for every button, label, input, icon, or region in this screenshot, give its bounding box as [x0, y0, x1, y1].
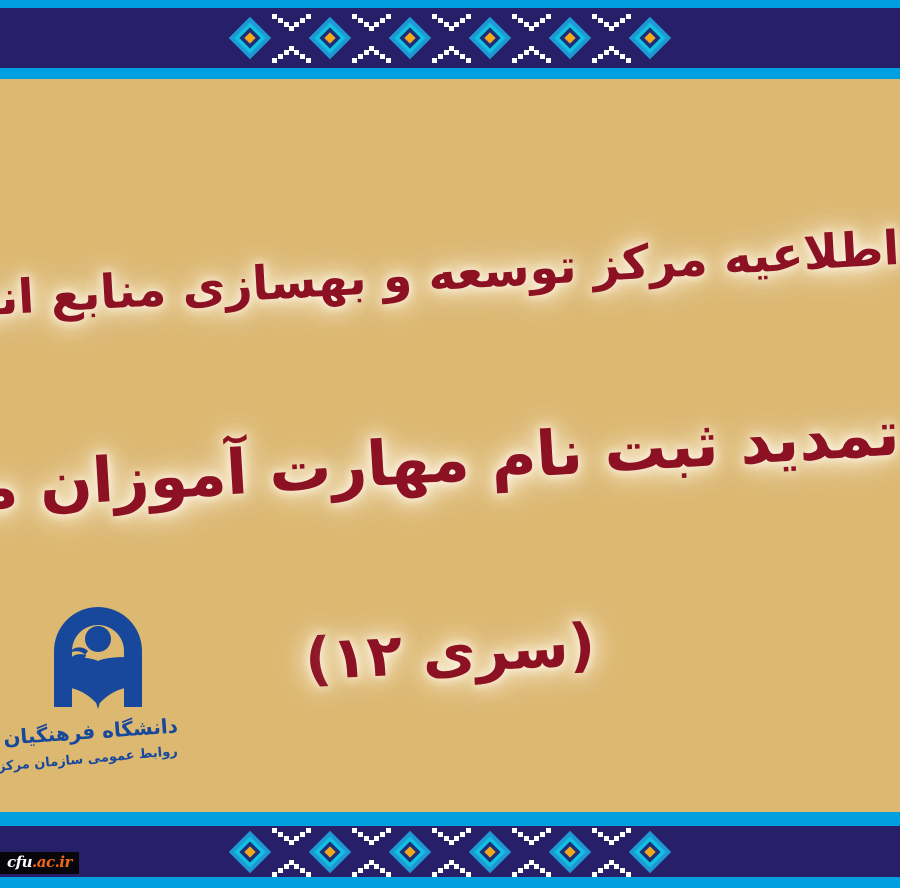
kilim-x-connector [350, 826, 390, 878]
site-watermark: cfu.ac.ir [0, 852, 79, 874]
university-logo-block: دانشگاه فرهنگیان روابط عمومی سازمان مرکز… [18, 595, 178, 766]
bottom-cyan-thick-band [0, 812, 900, 826]
top-cyan-thin-band [0, 0, 900, 8]
kilim-diamond-motif [547, 15, 593, 61]
kilim-x-connector [270, 826, 310, 878]
kilim-x-connector [590, 826, 630, 878]
kilim-x-connector [430, 826, 470, 878]
kilim-x-connector [270, 12, 310, 64]
poster-canvas: اطلاعیه مرکز توسعه و بهسازی منابع انسانی… [0, 0, 900, 888]
kilim-motif-row [230, 826, 670, 878]
kilim-x-connector [430, 12, 470, 64]
kilim-diamond-motif [387, 829, 433, 875]
kilim-x-connector [510, 826, 550, 878]
farhangian-university-logo-icon [44, 595, 152, 713]
kilim-diamond-motif [307, 15, 353, 61]
headline-line-1: اطلاعیه مرکز توسعه و بهسازی منابع انسانی [0, 222, 900, 326]
kilim-diamond-motif [467, 15, 513, 61]
logo-university-name: دانشگاه فرهنگیان [17, 713, 178, 748]
kilim-diamond-motif [627, 15, 673, 61]
kilim-diamond-motif [307, 829, 353, 875]
kilim-diamond-motif [227, 829, 273, 875]
top-cyan-thick-band [0, 68, 900, 79]
kilim-diamond-motif [387, 15, 433, 61]
kilim-diamond-motif [547, 829, 593, 875]
kilim-motif-row [230, 12, 670, 64]
watermark-suffix: .ac.ir [32, 853, 72, 871]
kilim-x-connector [350, 12, 390, 64]
watermark-primary: cfu [7, 853, 32, 871]
kilim-x-connector [510, 12, 550, 64]
kilim-diamond-motif [467, 829, 513, 875]
bottom-kilim-ornament [230, 826, 670, 877]
top-kilim-ornament [230, 10, 670, 66]
bottom-cyan-thin-band [0, 877, 900, 888]
kilim-diamond-motif [627, 829, 673, 875]
kilim-x-connector [590, 12, 630, 64]
headline-line-2: تمدید ثبت نام مهارت آموزان ماده ۲۸ [0, 397, 900, 522]
kilim-diamond-motif [227, 15, 273, 61]
